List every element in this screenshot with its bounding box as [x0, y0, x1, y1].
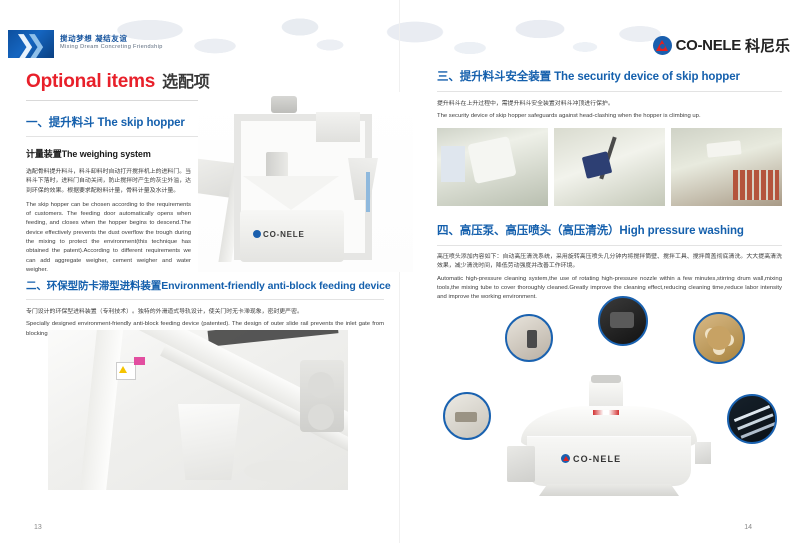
mixer-lid-shape: [244, 460, 314, 482]
high-pressure-pump-photo: [598, 296, 648, 346]
warning-label-icon: [116, 362, 136, 380]
page-number-left: 13: [34, 524, 42, 531]
slogan-english: Mixing Dream Concreting Friendship: [60, 44, 163, 50]
control-box-shape: [316, 112, 360, 142]
pipe-shape: [366, 172, 370, 212]
section-4-body-cn: 高压喷头添加内容如下：自动高压清洗系统，采用旋转高压喷头几分钟内将搅拌筒壁、搅拌…: [437, 253, 782, 272]
brand-name-cn: 科尼乐: [745, 35, 790, 56]
section-2-heading: 二、环保型防卡滞型进料装置Environment-friendly anti-b…: [26, 278, 384, 293]
top-motor-shape: [271, 96, 297, 113]
mixer-brand-label: CO-NELE: [561, 454, 621, 464]
security-device-photo-2: [554, 128, 665, 206]
double-chevron-logo: ❯ ❯: [8, 30, 54, 58]
high-pressure-washing-cluster: CO-NELE: [437, 292, 782, 514]
catalogue-spread: ❯ ❯ 搅动梦想 凝结友谊 Mixing Dream Concreting Fr…: [0, 0, 800, 543]
machine-brand-label: CO-NELE: [253, 230, 305, 239]
security-device-photo-row: [437, 128, 782, 206]
slogan-chinese: 搅动梦想 凝结友谊: [60, 33, 127, 44]
chevron-right-icon-2: ❯: [25, 32, 47, 58]
mixer-base-shape: [539, 484, 679, 496]
page-title-en: Optional items: [26, 71, 155, 92]
section-3-heading: 三、提升料斗安全装置 The security device of skip h…: [437, 68, 782, 84]
column-shape: [78, 330, 124, 490]
page-title-cn: 选配项: [162, 74, 209, 91]
co-nele-emblem-icon: [653, 36, 672, 55]
red-handle-shape: [593, 410, 619, 415]
security-device-photo-1: [437, 128, 548, 206]
brand-lockup: CO-NELE 科尼乐: [653, 35, 790, 56]
section-1-subheading: 计量装置The weighing system: [26, 147, 191, 160]
mixer-discharge-shape: [507, 446, 535, 482]
section-3-body-en: The security device of skip hopper safeg…: [437, 112, 782, 121]
section-3-body-cn: 提升料斗在上升过程中，需提升料斗安全装置对料斗冲顶进行保护。: [437, 100, 782, 109]
skip-hopper-machine-photo: CO-NELE: [198, 92, 413, 272]
section-1-body-cn: 选配骨料提升料斗，料斗卸料时自动打开搅拌机上的进料门。当料斗下落时，进料门自动关…: [26, 168, 191, 196]
anti-block-feeding-device-photo: [48, 330, 348, 490]
section-2-body-cn: 专门设计的环保型进料装置（专利技术）。独特的外滑道式导轨设计，使关门时无卡滞现象…: [26, 308, 384, 317]
planetary-mixer-photo: CO-NELE: [505, 380, 715, 505]
drive-motor-shape: [266, 152, 288, 178]
ceiling-beam-shape: [208, 330, 339, 347]
cone-shape: [243, 176, 339, 210]
valve-assembly-photo: [443, 392, 491, 440]
section-1-body-en: The skip hopper can be chosen according …: [26, 201, 191, 275]
security-device-photo-3: [671, 128, 782, 206]
rotating-nozzle-head-photo: [693, 312, 745, 364]
spray-in-drum-photo: [727, 394, 777, 444]
gearbox-shape: [300, 360, 344, 432]
right-page-column: 三、提升料斗安全装置 The security device of skip h…: [437, 68, 782, 122]
brand-name-en: CO-NELE: [676, 37, 741, 54]
feed-hopper-shape: [178, 404, 240, 480]
mixer-panel-shape: [695, 442, 711, 464]
page-title: Optional items选配项: [26, 68, 384, 93]
page-number-right: 14: [744, 524, 752, 531]
section-1-heading: 一、提升料斗 The skip hopper: [26, 114, 191, 130]
pink-sticker-shape: [134, 357, 145, 365]
mixer-brand-text: CO-NELE: [573, 454, 621, 464]
page-header: ❯ ❯ 搅动梦想 凝结友谊 Mixing Dream Concreting Fr…: [0, 12, 800, 58]
section-4-block: 四、高压泵、高压喷头（高压清洗）High pressure washing 高压…: [437, 222, 782, 302]
nozzle-detail-photo: [505, 314, 553, 362]
section-4-heading: 四、高压泵、高压喷头（高压清洗）High pressure washing: [437, 222, 782, 238]
